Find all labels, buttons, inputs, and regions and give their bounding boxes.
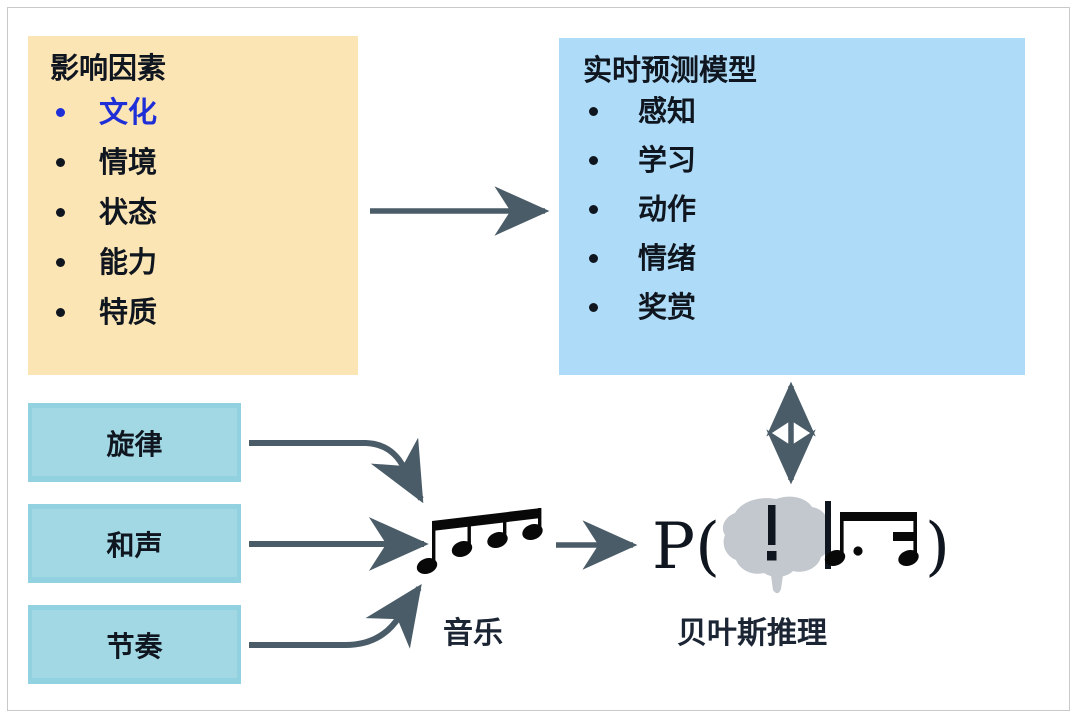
list-item: 情境 bbox=[56, 137, 358, 187]
bullet-dot-icon bbox=[56, 158, 65, 167]
bayesian-inference-caption: 贝叶斯推理 bbox=[677, 608, 827, 652]
list-item: 情绪 bbox=[589, 234, 1025, 283]
influencing-factors-list: 文化 情境 状态 能力 特质 bbox=[28, 87, 358, 337]
feature-box-label: 节奏 bbox=[106, 625, 162, 665]
dotted-eighth-sixteenth-note-icon bbox=[823, 512, 921, 569]
list-item: 文化 bbox=[56, 87, 358, 137]
bullet-dot-icon bbox=[589, 156, 598, 165]
influencing-factors-panel: 影响因素 文化 情境 状态 能力 特质 bbox=[28, 36, 358, 375]
feature-box-rhythm: 节奏 bbox=[28, 605, 241, 684]
list-item-label: 学习 bbox=[638, 146, 696, 175]
list-item-label: 特质 bbox=[99, 298, 157, 327]
bullet-dot-icon bbox=[589, 107, 598, 116]
list-item-label: 感知 bbox=[638, 97, 696, 126]
music-caption: 音乐 bbox=[443, 608, 503, 652]
feature-box-label: 和声 bbox=[106, 524, 162, 564]
list-item: 动作 bbox=[589, 185, 1025, 234]
realtime-prediction-model-title: 实时预测模型 bbox=[583, 56, 1025, 85]
formula-open-paren: P( bbox=[652, 510, 720, 584]
arrow-rhythm-to-music bbox=[249, 588, 419, 645]
brain-with-exclamation-icon bbox=[723, 497, 831, 594]
list-item-label: 奖赏 bbox=[638, 293, 696, 322]
feature-box-label: 旋律 bbox=[106, 423, 162, 463]
list-item-label: 状态 bbox=[99, 198, 157, 227]
bullet-dot-icon bbox=[56, 108, 65, 117]
arrow-melody-to-music bbox=[249, 443, 421, 499]
bullet-dot-icon bbox=[56, 308, 65, 317]
realtime-prediction-model-panel: 实时预测模型 感知 学习 动作 情绪 奖赏 bbox=[559, 38, 1025, 375]
feature-box-harmony: 和声 bbox=[28, 504, 241, 583]
realtime-prediction-model-list: 感知 学习 动作 情绪 奖赏 bbox=[559, 87, 1025, 332]
feature-box-melody: 旋律 bbox=[28, 403, 241, 482]
list-item: 状态 bbox=[56, 187, 358, 237]
bullet-dot-icon bbox=[56, 208, 65, 217]
list-item-label: 动作 bbox=[638, 195, 696, 224]
list-item-label: 情境 bbox=[99, 148, 157, 177]
list-item: 奖赏 bbox=[589, 283, 1025, 332]
list-item-label: 能力 bbox=[99, 248, 157, 277]
bullet-dot-icon bbox=[56, 258, 65, 267]
bullet-dot-icon bbox=[589, 205, 598, 214]
bullet-dot-icon bbox=[589, 303, 598, 312]
list-item-label: 文化 bbox=[99, 98, 157, 127]
diagram-canvas: 影响因素 文化 情境 状态 能力 特质 实 bbox=[0, 0, 1079, 720]
formula-close-paren: ) bbox=[925, 510, 950, 584]
list-item: 特质 bbox=[56, 287, 358, 337]
list-item: 能力 bbox=[56, 237, 358, 287]
influencing-factors-title: 影响因素 bbox=[50, 54, 358, 83]
bullet-dot-icon bbox=[589, 254, 598, 263]
bayes-formula: P( bbox=[652, 497, 950, 594]
list-item: 感知 bbox=[589, 87, 1025, 136]
formula-separator-bar bbox=[825, 501, 831, 569]
list-item: 学习 bbox=[589, 136, 1025, 185]
four-beamed-eighth-notes-icon bbox=[415, 508, 545, 577]
list-item-label: 情绪 bbox=[638, 244, 696, 273]
